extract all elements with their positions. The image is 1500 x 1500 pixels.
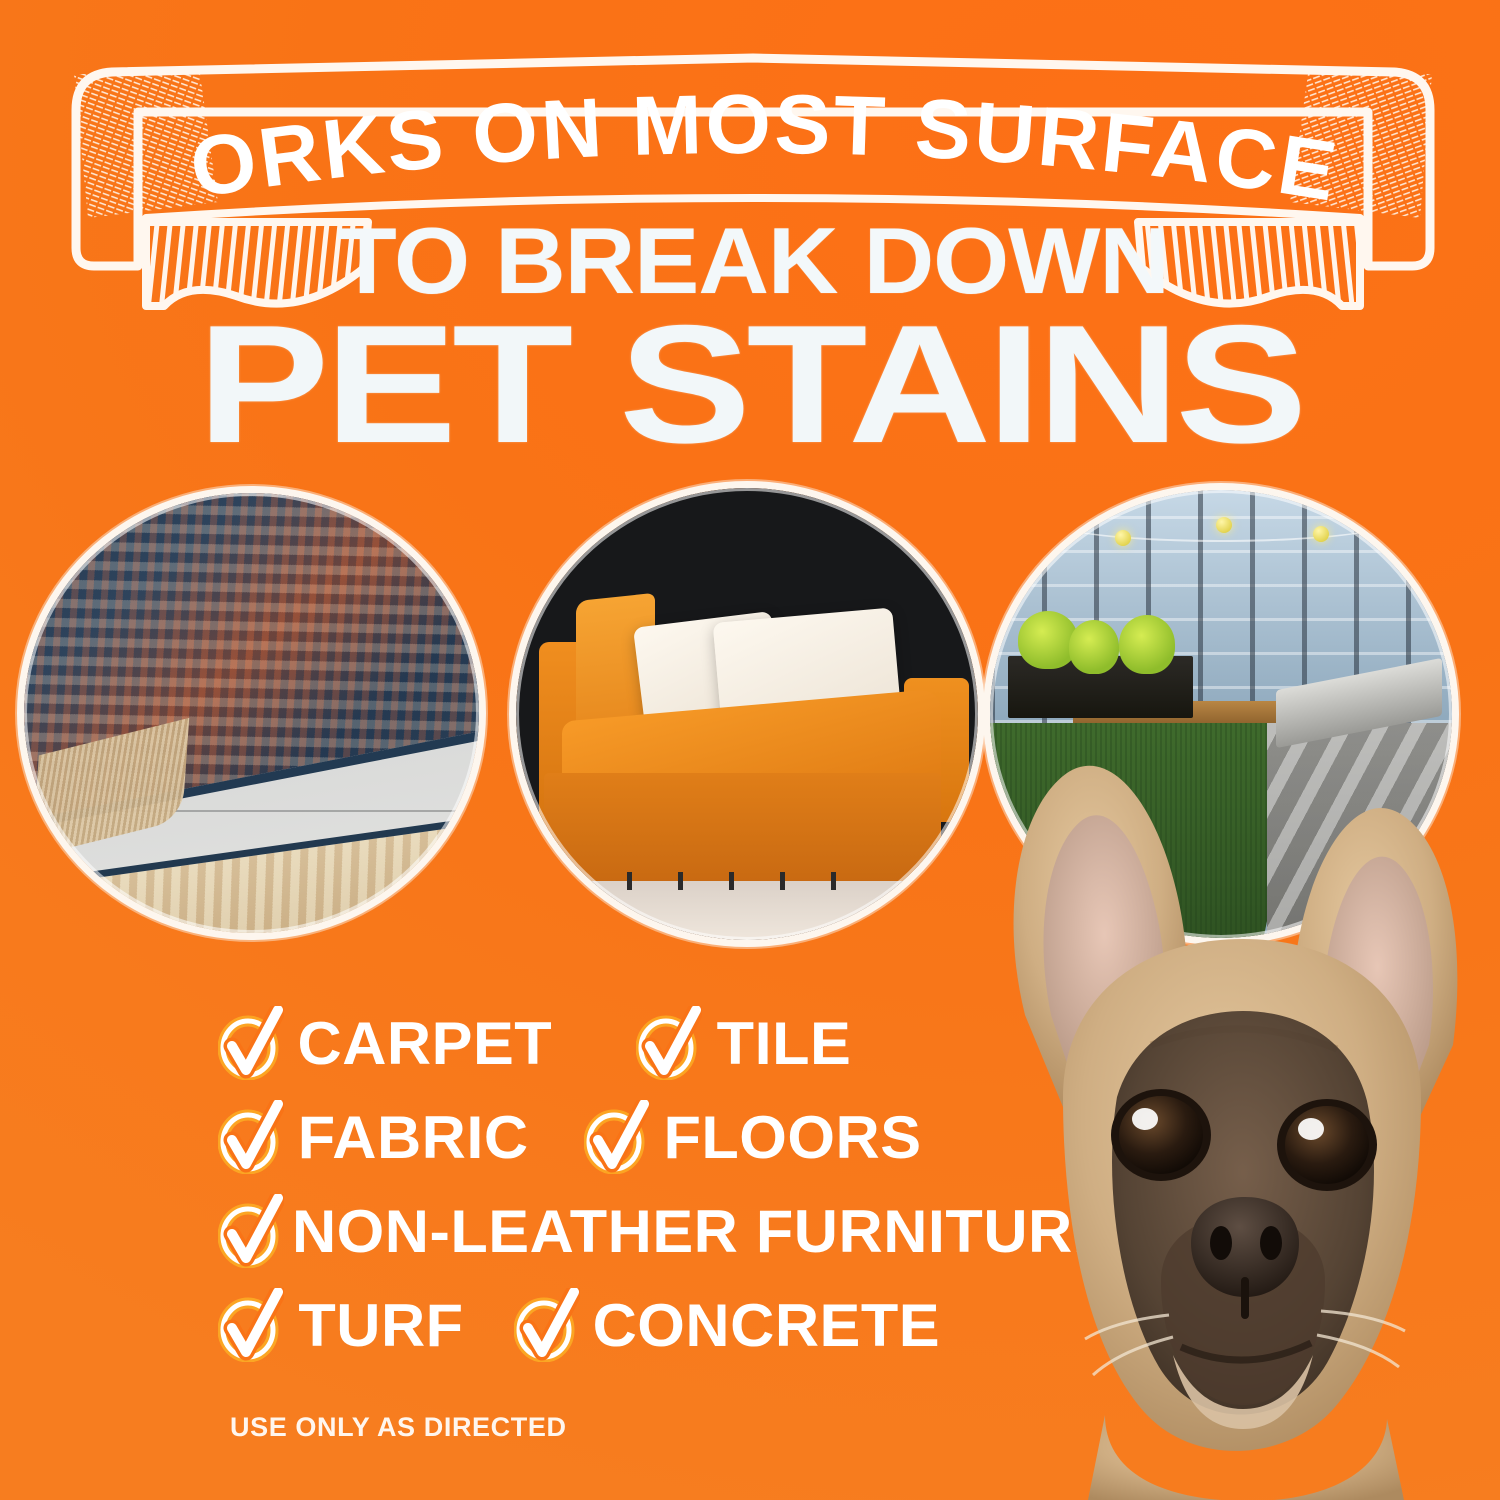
check-mark-icon xyxy=(218,1194,284,1268)
checklist-label: CONCRETE xyxy=(593,1291,941,1360)
checklist-label: FLOORS xyxy=(664,1103,922,1172)
checklist-item-turf: TURF xyxy=(218,1288,462,1362)
checklist-label: CARPET xyxy=(298,1009,553,1078)
carpet-rug-photo xyxy=(24,493,479,933)
checklist-label: FABRIC xyxy=(298,1103,529,1172)
arc-headline: WORKS ON MOST SURFACES xyxy=(68,52,1345,219)
check-mark-icon xyxy=(584,1100,650,1174)
main-headline: PET STAINS xyxy=(0,300,1500,468)
banner-ribbon: WORKS ON MOST SURFACES TO BREAK DOWN xyxy=(68,52,1438,314)
check-mark-icon xyxy=(636,1006,702,1080)
checklist-item-concrete: CONCRETE xyxy=(514,1288,937,1362)
disclaimer-text: USE ONLY AS DIRECTED xyxy=(230,1412,567,1443)
checklist-label: TURF xyxy=(298,1291,463,1360)
check-mark-icon xyxy=(514,1288,580,1362)
poster-canvas: WORKS ON MOST SURFACES TO BREAK DOWN PET… xyxy=(0,0,1500,1500)
checklist-item-floors: FLOORS xyxy=(584,1100,919,1174)
french-bulldog-photo xyxy=(955,715,1500,1500)
checklist-item-tile: TILE xyxy=(636,1006,850,1080)
check-mark-icon xyxy=(218,1100,284,1174)
check-mark-icon xyxy=(218,1288,284,1362)
sofa-photo xyxy=(516,488,978,940)
checklist-label: TILE xyxy=(716,1009,851,1078)
checklist-item-fabric: FABRIC xyxy=(218,1100,526,1174)
checklist-item-carpet: CARPET xyxy=(218,1006,550,1080)
check-mark-icon xyxy=(218,1006,284,1080)
